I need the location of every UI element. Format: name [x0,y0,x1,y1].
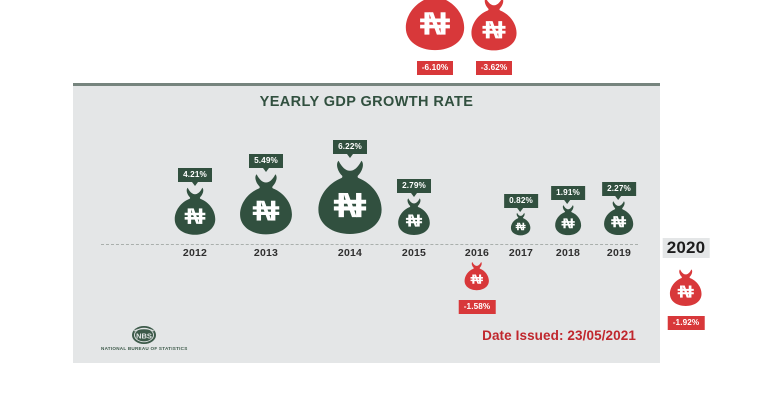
year-label-2014: 2014 [334,247,366,259]
nbs-logo-caption: NATIONAL BUREAU OF STATISTICS [101,346,188,351]
date-issued-label: Date Issued: 23/05/2021 [482,328,636,343]
money-bag-icon [470,0,518,57]
money-bag-2017 [511,212,532,241]
money-bag-icon [397,197,431,236]
gdp-point-2012: 4.21% [173,168,217,241]
year-label-2013: 2013 [250,247,282,259]
gdp-chart-panel: YEARLY GDP GROWTH RATE 20124.21%20135.49… [73,83,660,363]
top-bags-strip: -6.10%-3.62% [0,0,771,83]
money-bag-2012 [173,186,217,241]
gdp-point-2013: 5.49% [238,154,294,241]
year-label-2012: 2012 [179,247,211,259]
gdp-point-2018: 1.91% [551,186,585,241]
nbs-logo-icon: NBS [131,325,157,345]
money-bag-2014 [316,158,384,241]
money-bag-2019 [604,200,635,241]
top-bag-left: -6.10% [403,0,467,75]
money-bag-2018 [554,204,582,241]
money-bag-icon [604,200,635,236]
year-label-2018: 2018 [552,247,584,259]
value-badge-2019: 2.27% [602,182,636,196]
money-bag-icon [173,186,217,236]
gdp-point-2014: 6.22% [316,140,384,241]
value-badge-2013: 5.49% [249,154,283,168]
money-bag-2016 [464,261,490,296]
value-badge: -6.10% [417,61,454,75]
value-badge-2012: 4.21% [178,168,212,182]
money-bag-icon [464,261,490,291]
money-bag-icon [403,0,467,57]
value-badge-2020: -1.92% [668,316,705,330]
year-label-2020: 2020 [663,238,710,258]
money-bag-icon [470,0,518,52]
value-badge-2018: 1.91% [551,186,585,200]
gdp-point-2019: 2.27% [602,182,636,241]
gdp-point-2015: 2.79% [397,179,431,241]
year-label-2016: 2016 [461,247,493,259]
money-bag-icon [669,268,703,307]
money-bag-2013 [238,172,294,241]
gdp-point-2016: -1.58% [459,261,496,314]
page-title: YEARLY GDP GROWTH RATE [73,94,660,110]
timeline-axis [101,244,638,245]
svg-text:NBS: NBS [136,331,152,340]
top-bag-right: -3.62% [470,0,518,75]
money-bag-icon [238,172,294,236]
value-badge-2016: -1.58% [459,300,496,314]
value-badge-2015: 2.79% [397,179,431,193]
money-bag-icon [554,204,582,236]
value-badge-2017: 0.82% [504,194,538,208]
money-bag-2015 [397,197,431,241]
nbs-logo: NBS NATIONAL BUREAU OF STATISTICS [101,325,188,351]
year-label-2015: 2015 [398,247,430,259]
value-badge-2014: 6.22% [333,140,367,154]
money-bag-icon [316,158,384,236]
value-badge: -3.62% [476,61,513,75]
money-bag-icon [403,0,467,52]
gdp-point-2020: -1.92% [668,268,705,330]
gdp-point-2017: 0.82% [504,194,538,241]
year-label-2019: 2019 [603,247,635,259]
money-bag-2020 [669,268,703,312]
year-label-2017: 2017 [505,247,537,259]
money-bag-icon [511,212,532,236]
